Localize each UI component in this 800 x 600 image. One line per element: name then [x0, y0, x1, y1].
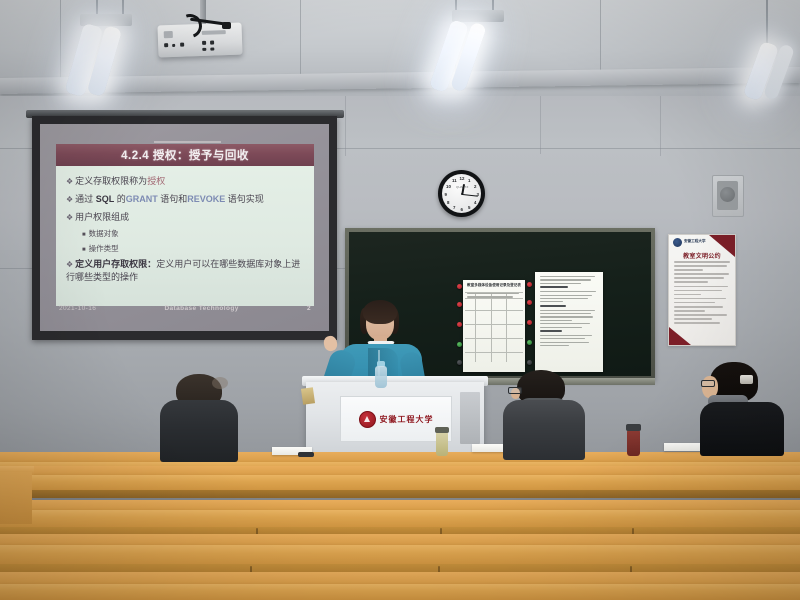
- phone: [298, 452, 314, 457]
- desk-row-4: [0, 534, 800, 576]
- student-left: [160, 374, 250, 466]
- board-magnet: [527, 320, 532, 325]
- thermos-green-lid: [435, 427, 449, 433]
- clock-minute-hand: [461, 194, 477, 197]
- schedule-sheet-header: 教室多媒体设备使用记录及登记表: [463, 283, 525, 288]
- glasses-icon: [508, 387, 522, 394]
- slide-bullet-2: ❖通过 SQL 的GRANT 语句和REVOKE 语句实现: [66, 192, 304, 205]
- wall-poster: 安徽工程大学 教室文明公约: [668, 234, 736, 346]
- board-magnet: [527, 300, 532, 305]
- projection-screen: 4.2.4 授权：授予与回收 ❖定义存取权限称为授权 ❖通过 SQL 的GRAN…: [32, 116, 337, 340]
- poster-text-block: [674, 261, 730, 327]
- slide-title: 4.2.4 授权：授予与回收: [121, 147, 249, 163]
- blackboard-sheet-notice: [535, 272, 603, 372]
- wall-speaker: [712, 175, 744, 217]
- slide-body: ❖定义存取权限称为授权 ❖通过 SQL 的GRANT 语句和REVOKE 语句实…: [56, 166, 314, 306]
- university-emblem-icon: [359, 411, 376, 428]
- slide-subbullet-1: ■数据对象: [82, 228, 304, 239]
- slide-footer-course: Database Technology: [164, 305, 238, 312]
- presenter-hand: [323, 335, 339, 352]
- university-logo-icon: [673, 238, 682, 247]
- podium-tag: [301, 387, 315, 405]
- wall-clock: QUARTZ 12 1 2 3 4 5 6 7 8 9 10 11: [438, 170, 485, 217]
- podium-side-panel: [460, 392, 480, 444]
- desk-row-5: [0, 572, 800, 600]
- desk-row-3: [0, 500, 800, 536]
- clock-face: QUARTZ 12 1 2 3 4 5 6 7 8 9 10 11: [442, 174, 481, 213]
- blackboard-sheet-schedule: 教室多媒体设备使用记录及登记表: [463, 280, 525, 372]
- student-right: [700, 362, 796, 466]
- glasses-icon: [701, 380, 715, 387]
- board-magnet: [457, 342, 462, 347]
- slide-bullet-1: ❖定义存取权限称为授权: [66, 174, 304, 187]
- podium: 安徽工程大学: [306, 382, 484, 460]
- poster-title: 教室文明公约: [669, 251, 735, 260]
- poster-corner-decoration-bottom: [669, 327, 691, 345]
- student-body: [700, 402, 784, 456]
- board-magnet: [457, 302, 462, 307]
- student-body: [160, 400, 238, 462]
- paper-sheet: [664, 443, 704, 451]
- slide-bullet-4: ❖定义用户存取权限：定义用户可以在哪些数据库对象上进行哪些类型的操作: [66, 258, 304, 284]
- thermos-red: [627, 430, 640, 456]
- slide-bullet-3: ❖用户权限组成: [66, 210, 304, 223]
- hair-clip: [740, 375, 753, 384]
- slide-footer-page: 2: [307, 305, 311, 312]
- poster-org: 安徽工程大学: [684, 239, 706, 244]
- side-table: [0, 472, 32, 524]
- water-bottle: [375, 366, 387, 388]
- board-magnet: [527, 360, 532, 365]
- thermos-green: [436, 432, 448, 456]
- presentation-slide: 4.2.4 授权：授予与回收 ❖定义存取权限称为授权 ❖通过 SQL 的GRAN…: [40, 124, 329, 331]
- board-magnet: [457, 360, 462, 365]
- student-body: [503, 400, 585, 460]
- slide-footer: 2021-10-16 Database Technology 2: [56, 301, 314, 315]
- podium-university-name: 安徽工程大学: [380, 414, 434, 425]
- desk-row-2: [0, 466, 800, 500]
- thermos-red-lid: [626, 424, 641, 431]
- board-magnet: [457, 322, 462, 327]
- presenter-hair: [363, 300, 397, 324]
- classroom-photo: 4.2.4 授权：授予与回收 ❖定义存取权限称为授权 ❖通过 SQL 的GRAN…: [0, 0, 800, 600]
- slide-subbullet-2: ■操作类型: [82, 243, 304, 254]
- slide-footer-date: 2021-10-16: [59, 305, 96, 312]
- student-middle: [503, 370, 597, 466]
- board-magnet: [527, 340, 532, 345]
- board-magnet: [457, 284, 462, 289]
- board-magnet: [527, 282, 532, 287]
- slide-title-bar: 4.2.4 授权：授予与回收: [56, 144, 314, 166]
- paper-sheet: [472, 444, 506, 452]
